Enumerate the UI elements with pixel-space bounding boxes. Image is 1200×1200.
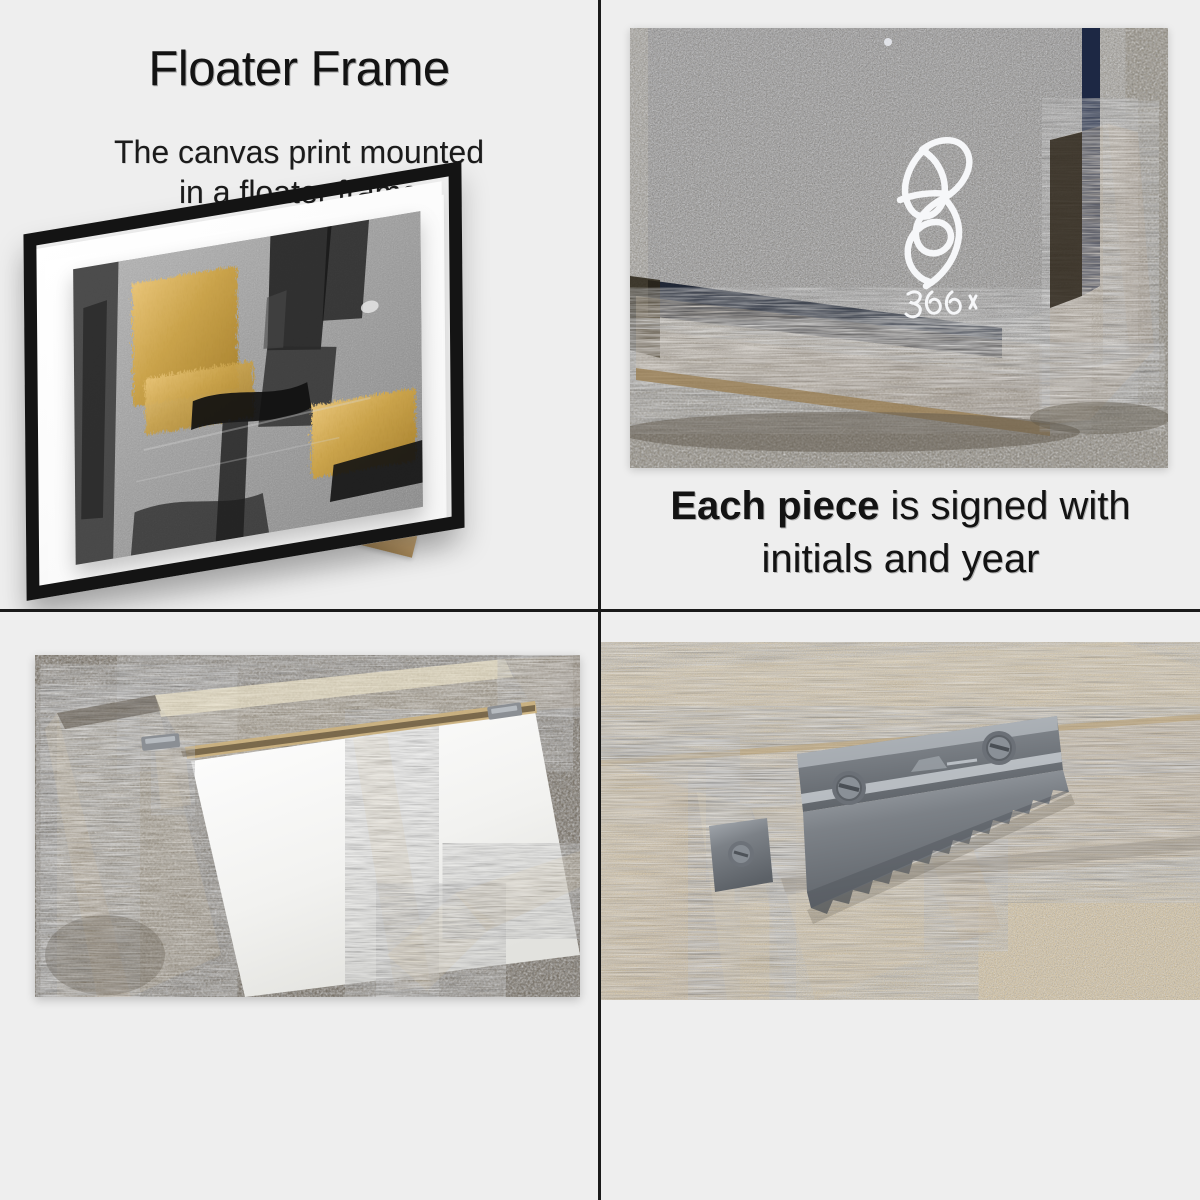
caption-rest-text: is signed with: [879, 484, 1130, 528]
caption-line-1: Each piece is signed with: [601, 480, 1200, 533]
panel-handmade: Handmade Like Original Painting The canv…: [0, 612, 598, 1200]
hanger-hardware-photo: [601, 642, 1200, 1000]
caption-bold-text: Each piece: [670, 484, 879, 528]
panel-floater-frame: Floater Frame The canvas print mounted i…: [0, 0, 598, 609]
stretcher-bar-photo: [35, 655, 580, 997]
horizontal-divider: [0, 609, 1200, 612]
panel-signed-piece: Each piece is signed with initials and y…: [601, 0, 1200, 609]
caption-line-2: initials and year: [601, 533, 1200, 586]
signed-piece-caption: Each piece is signed with initials and y…: [601, 480, 1200, 586]
stretcher-bar-svg: [35, 655, 580, 997]
hanger-hardware-svg: [601, 642, 1200, 1000]
signed-canvas-svg: [630, 28, 1168, 468]
exploded-frame-illustration: [0, 196, 598, 609]
panel-ready-to-hang: Ready To Hang On Your Wall Comes with a …: [601, 612, 1200, 1200]
signed-canvas-photo: [630, 28, 1168, 468]
product-feature-infographic: Floater Frame The canvas print mounted i…: [0, 0, 1200, 1200]
subtitle-line-1: The canvas print mounted: [0, 132, 598, 172]
page-title: Floater Frame: [0, 44, 598, 95]
black-floater-frame: [23, 161, 464, 601]
vertical-divider: [598, 0, 601, 1200]
